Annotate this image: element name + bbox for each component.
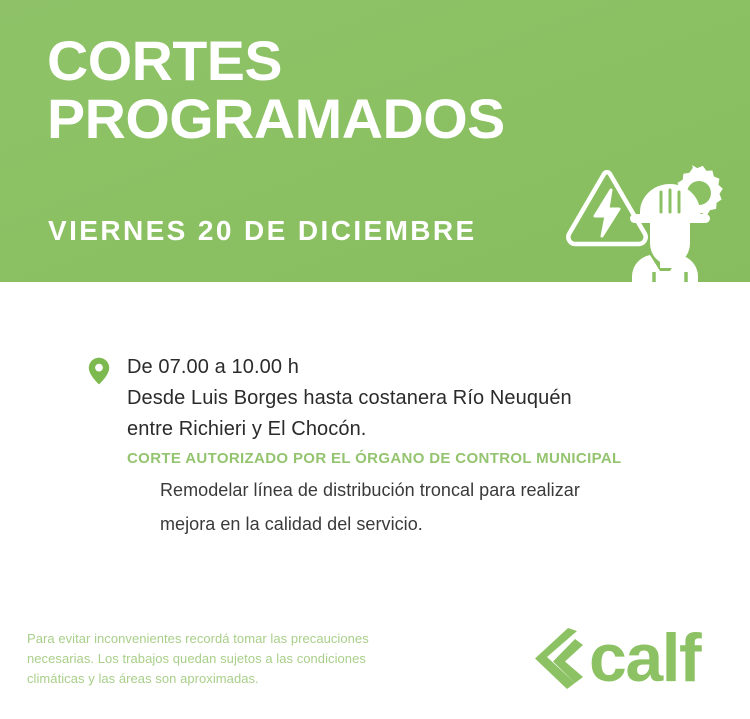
page-title-line-2: PROGRAMADOS	[47, 90, 659, 148]
calf-wordmark: calf	[589, 624, 700, 692]
outage-authorization-note: CORTE AUTORIZADO POR EL ÓRGANO DE CONTRO…	[127, 447, 750, 471]
outage-time-range: De 07.00 a 10.00 h	[127, 352, 750, 383]
header-date-label: VIERNES 20 DE DICIEMBRE	[48, 215, 477, 247]
calf-logo: calf	[533, 623, 700, 693]
map-pin-icon	[88, 357, 110, 385]
footer: Para evitar inconvenientes recordá tomar…	[0, 619, 750, 719]
footer-disclaimer: Para evitar inconvenientes recordá tomar…	[27, 629, 447, 689]
calf-chevron-logo-icon	[533, 627, 585, 689]
outage-entry: De 07.00 a 10.00 h Desde Luis Borges has…	[0, 352, 750, 539]
electrical-worker-icon	[562, 160, 742, 282]
outage-location-line-1: Desde Luis Borges hasta costanera Río Ne…	[127, 383, 750, 414]
outage-location-line-2: entre Richieri y El Chocón.	[127, 414, 750, 445]
header-title-group: CORTES PROGRAMADOS	[47, 32, 647, 148]
outage-list: De 07.00 a 10.00 h Desde Luis Borges has…	[0, 282, 750, 539]
footer-disclaimer-line-2: necesarias. Los trabajos quedan sujetos …	[27, 649, 447, 669]
outage-description-line-2: mejora en la calidad del servicio.	[127, 509, 750, 539]
outage-description-line-1: Remodelar línea de distribución troncal …	[127, 475, 750, 505]
footer-disclaimer-line-1: Para evitar inconvenientes recordá tomar…	[27, 629, 447, 649]
header-band: CORTES PROGRAMADOS VIERNES 20 DE DICIEMB…	[0, 0, 750, 282]
footer-disclaimer-line-3: climáticas y las áreas son aproximadas.	[27, 669, 447, 689]
page-title-line-1: CORTES	[47, 32, 659, 90]
outage-notice-poster: CORTES PROGRAMADOS VIERNES 20 DE DICIEMB…	[0, 0, 750, 719]
